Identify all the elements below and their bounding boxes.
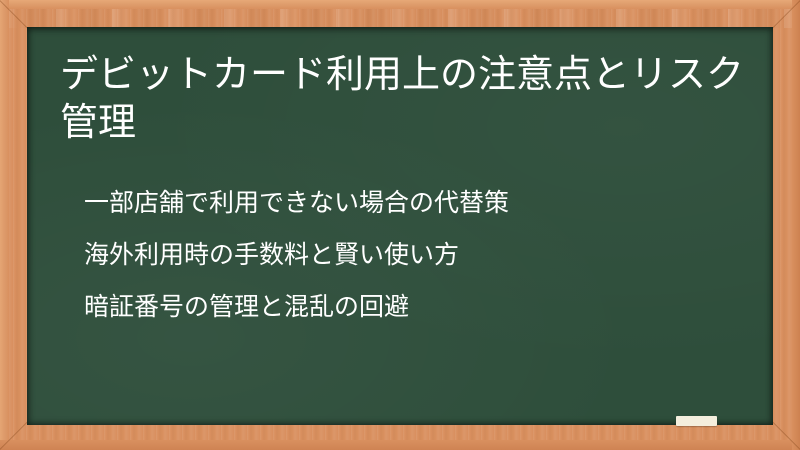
frame-shadow-right bbox=[792, 0, 800, 450]
chalk-stick-icon bbox=[676, 416, 717, 426]
chalkboard-slide: デビットカード利用上の注意点とリスク管理 一部店舗で利用できない場合の代替策 海… bbox=[0, 0, 800, 450]
slide-title: デビットカード利用上の注意点とリスク管理 bbox=[60, 50, 760, 146]
frame-highlight-left bbox=[0, 0, 9, 450]
chalkboard-surface: デビットカード利用上の注意点とリスク管理 一部店舗で利用できない場合の代替策 海… bbox=[27, 27, 773, 425]
list-item: 暗証番号の管理と混乱の回避 bbox=[84, 281, 744, 333]
frame-highlight-top bbox=[0, 0, 800, 9]
bullet-list: 一部店舗で利用できない場合の代替策 海外利用時の手数料と賢い使い方 暗証番号の管… bbox=[84, 177, 744, 333]
list-item: 海外利用時の手数料と賢い使い方 bbox=[84, 229, 744, 281]
list-item: 一部店舗で利用できない場合の代替策 bbox=[84, 177, 744, 229]
frame-shadow-bottom bbox=[0, 440, 800, 450]
